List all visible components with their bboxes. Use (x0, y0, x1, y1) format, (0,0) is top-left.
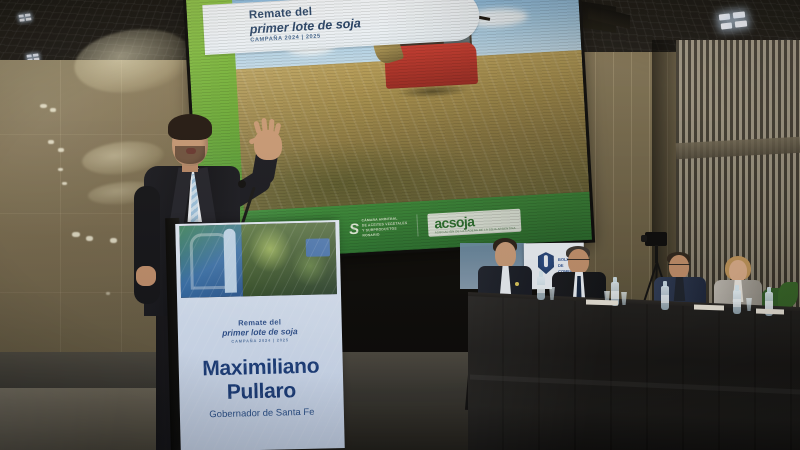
lapel-pin-icon (515, 282, 519, 286)
wall-spot-reflection (50, 108, 56, 112)
water-bottle (733, 290, 741, 314)
podium-nameplate: Remate del primer lote de soja CAMPAÑA 2… (181, 292, 341, 450)
video-camera-icon (645, 232, 667, 246)
podium-speaker-lastname: Pullaro (183, 378, 340, 406)
podium-speaker-role: Gobernador de Santa Fe (184, 406, 340, 421)
wall-spot-reflection (110, 238, 117, 243)
panelist-head (495, 242, 516, 268)
podium-display (179, 222, 337, 298)
printed-papers (756, 309, 784, 315)
logo-divider (417, 214, 419, 236)
podium-display-badge (306, 238, 330, 257)
eyeglasses-icon (668, 264, 690, 268)
water-bottle (537, 276, 545, 300)
camara-logo-mark: S (349, 220, 360, 238)
water-bottle (661, 286, 669, 310)
speaker-raised-hand (254, 130, 282, 160)
speaker-left-arm (134, 186, 160, 304)
podium: Remate del primer lote de soja CAMPAÑA 2… (175, 220, 345, 450)
wall-spot-reflection (58, 148, 64, 152)
photograph-scene: Remate del primer lote de soja CAMPAÑA 2… (0, 0, 800, 450)
finger (253, 121, 261, 135)
wall-spot-reflection (58, 168, 63, 171)
wall-spot-reflection (86, 236, 93, 241)
panelist-head (729, 260, 747, 282)
thumb (248, 136, 260, 145)
panel-table-skirt (468, 296, 800, 450)
finger (261, 118, 268, 133)
camara-logo-text: CÁMARA ARBITRAL DE ACEITES VEGETALES Y S… (361, 216, 407, 238)
microphone-icon (238, 180, 246, 188)
speaker-left-hand (136, 266, 156, 286)
ceiling-light-fixture (718, 12, 748, 33)
podium-display-bar (223, 229, 237, 293)
wall-spot-reflection (48, 140, 54, 144)
wall-spot-reflection (40, 104, 47, 108)
eyeglasses-icon (567, 259, 590, 263)
wall-spot-reflection (106, 292, 110, 295)
speaker-hair (168, 114, 212, 140)
printed-papers (694, 304, 724, 310)
finger (274, 123, 282, 136)
printed-papers (586, 299, 618, 305)
ceiling-light-fixture (18, 14, 32, 23)
camara-logo: S CÁMARA ARBITRAL DE ACEITES VEGETALES Y… (349, 216, 408, 239)
acsoja-logo: acsoja ASOCIACIÓN DE LA CADENA DE LA SOJ… (428, 208, 522, 236)
wall-spot-reflection (72, 232, 80, 237)
podium-display-photo (241, 222, 337, 296)
speaker-mouth (186, 148, 196, 154)
wall-spot-reflection (62, 182, 67, 185)
